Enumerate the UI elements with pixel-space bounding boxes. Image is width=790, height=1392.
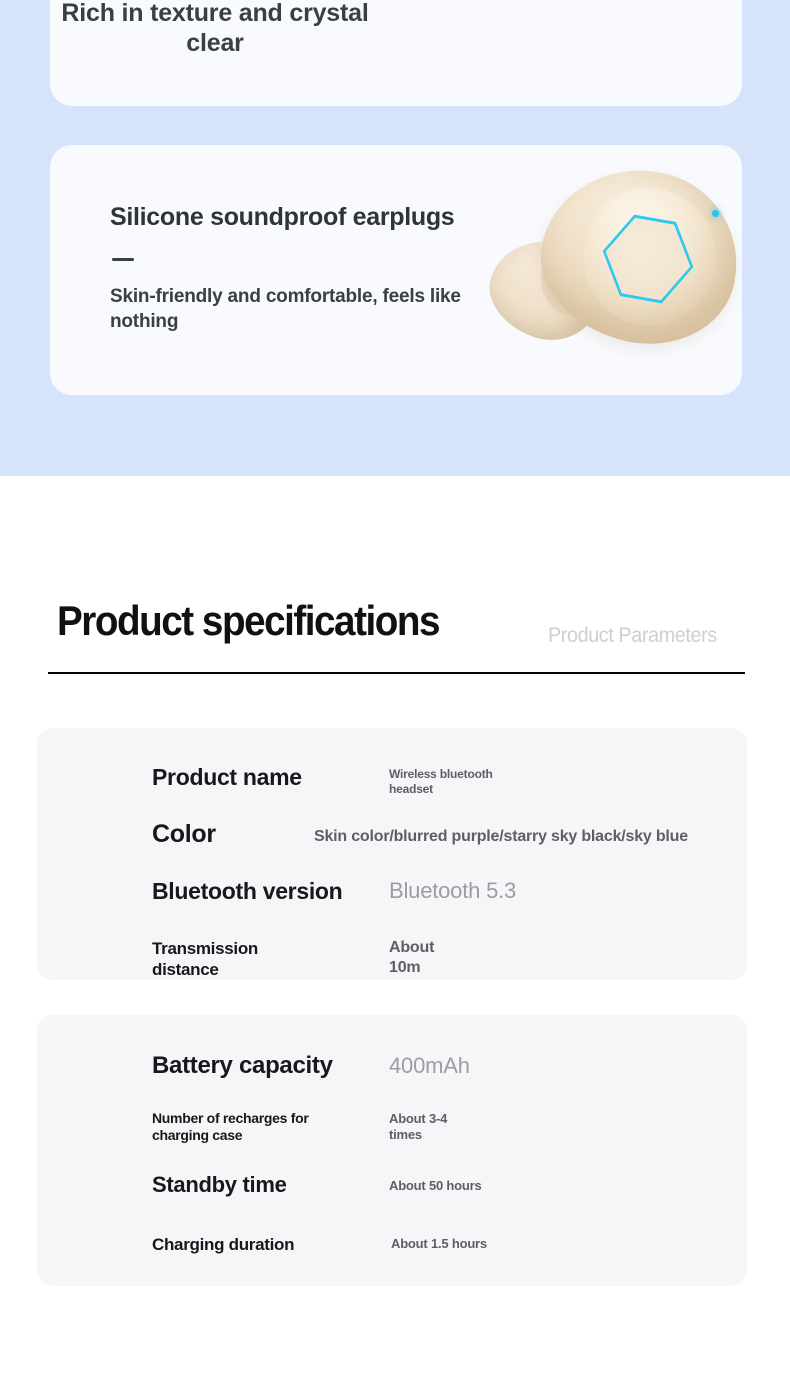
spec-value-color: Skin color/blurred purple/starry sky bla… — [314, 827, 688, 847]
spec-label-battery-capacity: Battery capacity — [152, 1053, 333, 1079]
feature-card-subtitle: Skin-friendly and comfortable, feels lik… — [110, 284, 510, 334]
title-underline-dash — [112, 258, 134, 261]
page-subtitle-english: Product Parameters — [548, 624, 717, 648]
spec-value-recharges-count: About 3-4 times — [389, 1111, 447, 1143]
spec-card-general: Product name Wireless bluetooth headset … — [37, 728, 747, 980]
spec-label-recharges-count: Number of recharges for charging case — [152, 1110, 308, 1144]
spec-value-transmission-distance: About 10m — [389, 938, 434, 978]
spec-label-color: Color — [152, 821, 216, 847]
page-title: Product specifications — [57, 597, 439, 645]
spec-label-transmission-distance: Transmission distance — [152, 938, 258, 980]
feature-card-heading: Rich in texture and crystal clear — [50, 0, 380, 58]
feature-card-audio-quality: Rich in texture and crystal clear — [50, 0, 742, 106]
spec-label-product-name: Product name — [152, 764, 302, 790]
spec-label-bluetooth-version: Bluetooth version — [152, 878, 342, 904]
product-specifications-section: Product specifications Product Parameter… — [0, 476, 790, 1392]
spec-label-charging-duration: Charging duration — [152, 1234, 294, 1255]
spec-header: Product specifications Product Parameter… — [0, 476, 790, 676]
spec-value-product-name: Wireless bluetooth headset — [389, 767, 493, 797]
spec-value-standby-time: About 50 hours — [389, 1178, 482, 1194]
spec-value-charging-duration: About 1.5 hours — [391, 1236, 487, 1252]
feature-card-silicone-earplugs: Silicone soundproof earplugs Skin-friend… — [50, 145, 742, 395]
spec-value-bluetooth-version: Bluetooth 5.3 — [389, 878, 516, 904]
spec-label-standby-time: Standby time — [152, 1173, 287, 1197]
feature-section: Rich in texture and crystal clear Silico… — [0, 0, 790, 476]
spec-value-battery-capacity: 400mAh — [389, 1053, 470, 1079]
single-earbud-photo — [480, 160, 742, 390]
feature-card-title: Silicone soundproof earplugs — [110, 203, 454, 232]
spec-card-battery: Battery capacity 400mAh Number of rechar… — [37, 1015, 747, 1286]
header-divider — [48, 672, 745, 674]
